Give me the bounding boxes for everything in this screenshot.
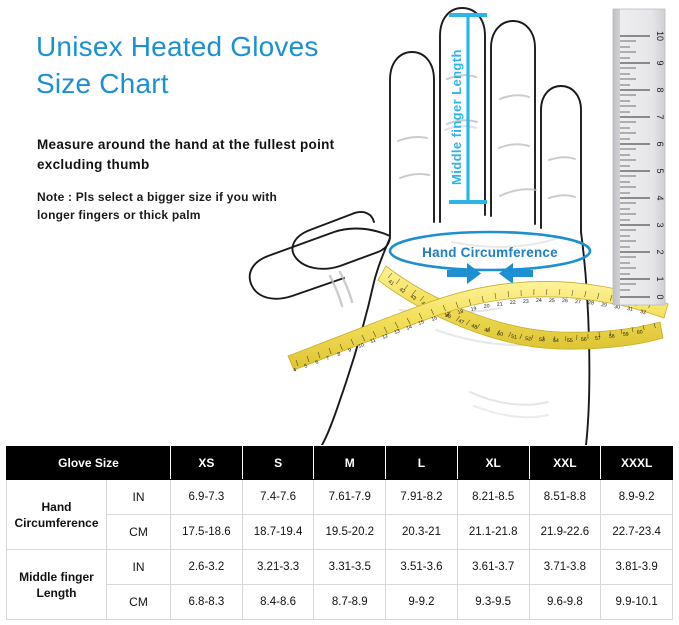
- svg-text:58: 58: [609, 334, 615, 340]
- svg-text:3: 3: [655, 222, 665, 227]
- table-header-row: Glove Size XS S M L XL XXL XXXL: [7, 447, 673, 480]
- cell-value: 7.4-7.6: [242, 480, 314, 515]
- cell-value: 17.5-18.6: [171, 515, 243, 550]
- svg-text:7: 7: [655, 114, 665, 119]
- svg-text:20: 20: [483, 303, 490, 310]
- svg-text:59: 59: [623, 331, 629, 338]
- svg-text:53: 53: [539, 337, 545, 343]
- cell-value: 9-9.2: [386, 585, 458, 620]
- svg-text:1: 1: [655, 276, 665, 281]
- cell-value: 21.9-22.6: [529, 515, 601, 550]
- cell-value: 8.21-8.5: [457, 480, 529, 515]
- cell-value: 7.91-8.2: [386, 480, 458, 515]
- row-label-middle-finger-length: Middle finger Length: [7, 550, 107, 620]
- svg-text:54: 54: [553, 338, 559, 344]
- svg-text:6: 6: [655, 141, 665, 146]
- hand-circumference-label: Hand Circumference: [422, 245, 558, 260]
- svg-text:0: 0: [655, 294, 665, 299]
- middle-finger-length-label: Middle finger Length: [449, 49, 464, 185]
- svg-text:24: 24: [536, 298, 542, 304]
- svg-text:21: 21: [497, 301, 503, 308]
- svg-text:55: 55: [567, 338, 573, 344]
- table-row: Hand Circumference IN 6.9-7.3 7.4-7.6 7.…: [7, 480, 673, 515]
- cell-value: 7.61-7.9: [314, 480, 386, 515]
- cell-value: 9.3-9.5: [457, 585, 529, 620]
- cell-value: 2.6-3.2: [171, 550, 243, 585]
- svg-text:32: 32: [640, 309, 647, 316]
- svg-text:19: 19: [470, 306, 477, 313]
- cell-value: 6.8-8.3: [171, 585, 243, 620]
- cell-value: 18.7-19.4: [242, 515, 314, 550]
- cell-value: 9.6-9.8: [529, 585, 601, 620]
- svg-text:8: 8: [655, 87, 665, 92]
- measure-instruction: Measure around the hand at the fullest p…: [37, 135, 337, 175]
- sizing-note: Note : Pls select a bigger size if you w…: [37, 188, 307, 224]
- svg-text:2: 2: [655, 249, 665, 254]
- svg-text:57: 57: [595, 336, 601, 342]
- svg-text:29: 29: [601, 302, 608, 309]
- svg-text:50: 50: [497, 331, 504, 338]
- cell-value: 8.4-8.6: [242, 585, 314, 620]
- svg-text:60: 60: [637, 329, 644, 336]
- cell-value: 3.61-3.7: [457, 550, 529, 585]
- header-size-m: M: [314, 447, 386, 480]
- cell-value: 22.7-23.4: [601, 515, 673, 550]
- size-chart-table: Glove Size XS S M L XL XXL XXXL Hand Cir…: [6, 446, 673, 620]
- cell-value: 21.1-21.8: [457, 515, 529, 550]
- svg-text:31: 31: [627, 306, 634, 313]
- cell-value: 3.21-3.3: [242, 550, 314, 585]
- header-size-xl: XL: [457, 447, 529, 480]
- ruler: 10 9 8 7 6 5 4 3 2 1 0: [613, 9, 665, 305]
- page-title-line-1: Unisex Heated Gloves: [36, 28, 366, 65]
- header-size-xs: XS: [171, 447, 243, 480]
- cell-value: 3.71-3.8: [529, 550, 601, 585]
- table-row: CM 17.5-18.6 18.7-19.4 19.5-20.2 20.3-21…: [7, 515, 673, 550]
- cell-value: 6.9-7.3: [171, 480, 243, 515]
- header-size-xxxl: XXXL: [601, 447, 673, 480]
- svg-text:9: 9: [655, 60, 665, 65]
- unit-cell: IN: [107, 480, 171, 515]
- unit-cell: CM: [107, 585, 171, 620]
- header-size-l: L: [386, 447, 458, 480]
- unit-cell: CM: [107, 515, 171, 550]
- svg-text:51: 51: [511, 334, 518, 341]
- size-chart-page: Middle finger Length Hand Circumference …: [0, 0, 679, 625]
- cell-value: 3.81-3.9: [601, 550, 673, 585]
- cell-value: 8.7-8.9: [314, 585, 386, 620]
- svg-text:14: 14: [406, 324, 414, 332]
- svg-text:22: 22: [510, 300, 516, 306]
- cell-value: 3.31-3.5: [314, 550, 386, 585]
- svg-text:10: 10: [655, 31, 665, 41]
- svg-text:4: 4: [655, 195, 665, 200]
- header-glove-size: Glove Size: [7, 447, 171, 480]
- page-title: Unisex Heated Gloves Size Chart: [36, 28, 366, 102]
- cell-value: 8.9-9.2: [601, 480, 673, 515]
- svg-text:25: 25: [549, 298, 555, 304]
- row-label-hand-circumference: Hand Circumference: [7, 480, 107, 550]
- cell-value: 8.51-8.8: [529, 480, 601, 515]
- svg-text:26: 26: [562, 298, 568, 304]
- header-size-xxl: XXL: [529, 447, 601, 480]
- header-size-s: S: [242, 447, 314, 480]
- svg-text:5: 5: [655, 168, 665, 173]
- svg-text:23: 23: [523, 299, 529, 305]
- cell-value: 19.5-20.2: [314, 515, 386, 550]
- svg-text:52: 52: [525, 336, 531, 342]
- cell-value: 20.3-21: [386, 515, 458, 550]
- svg-text:56: 56: [581, 337, 587, 343]
- unit-cell: IN: [107, 550, 171, 585]
- page-title-line-2: Size Chart: [36, 65, 366, 102]
- table-row: CM 6.8-8.3 8.4-8.6 8.7-8.9 9-9.2 9.3-9.5…: [7, 585, 673, 620]
- cell-value: 9.9-10.1: [601, 585, 673, 620]
- table-row: Middle finger Length IN 2.6-3.2 3.21-3.3…: [7, 550, 673, 585]
- svg-text:9: 9: [348, 347, 353, 354]
- cell-value: 3.51-3.6: [386, 550, 458, 585]
- svg-text:28: 28: [588, 300, 594, 307]
- svg-text:27: 27: [575, 299, 581, 305]
